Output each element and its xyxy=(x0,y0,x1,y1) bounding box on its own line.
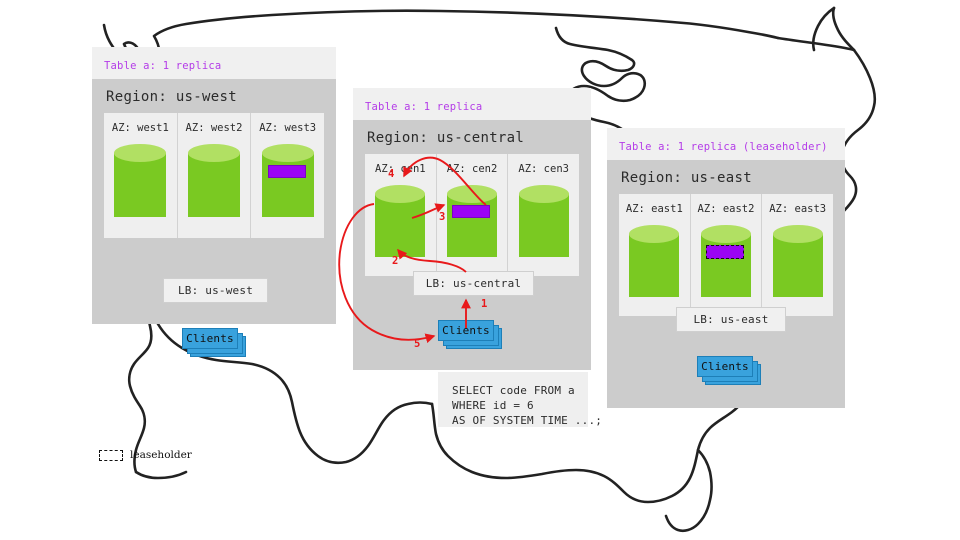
arrow-label-2: 2 xyxy=(392,255,398,267)
cylinder-body xyxy=(262,153,314,217)
cylinder-top xyxy=(114,144,166,162)
region-title: Region: us-west xyxy=(92,79,336,113)
cylinder-top xyxy=(519,185,569,203)
cylinder-body xyxy=(701,234,751,297)
node-cylinder-west2[interactable] xyxy=(188,144,240,226)
clients-stack-us-central[interactable]: Clients xyxy=(438,320,506,350)
cylinder-body xyxy=(447,194,497,257)
node-cylinder-cen3[interactable] xyxy=(519,185,569,265)
table-replica-label: Table a: 1 replica (leaseholder) xyxy=(619,141,828,153)
load-balancer-us-central[interactable]: LB: us-central xyxy=(413,271,534,296)
node-cylinder-west3[interactable] xyxy=(262,144,314,226)
az-cell-east2[interactable]: AZ: east2 xyxy=(690,194,762,316)
table-replica-label: Table a: 1 replica xyxy=(104,60,221,72)
az-cell-east3[interactable]: AZ: east3 xyxy=(761,194,833,316)
load-balancer-us-east[interactable]: LB: us-east xyxy=(676,307,786,332)
az-cell-cen3[interactable]: AZ: cen3 xyxy=(507,154,579,276)
region-panel-us-west: Table a: 1 replica Region: us-west AZ: w… xyxy=(92,47,336,324)
az-label: AZ: east3 xyxy=(762,203,833,215)
node-cylinder-east2[interactable] xyxy=(701,225,751,305)
cylinder-top xyxy=(447,185,497,203)
node-cylinder-west1[interactable] xyxy=(114,144,166,226)
arrow-label-3: 3 xyxy=(439,211,445,223)
az-label: AZ: east2 xyxy=(691,203,762,215)
az-label: AZ: west1 xyxy=(104,122,177,134)
replica-box-east2-leaseholder[interactable] xyxy=(706,245,744,259)
cylinder-body xyxy=(375,194,425,257)
load-balancer-us-west[interactable]: LB: us-west xyxy=(163,278,268,303)
cylinder-top xyxy=(701,225,751,243)
az-cell-east1[interactable]: AZ: east1 xyxy=(619,194,690,316)
node-cylinder-east1[interactable] xyxy=(629,225,679,305)
cylinder-top xyxy=(188,144,240,162)
region-title: Region: us-central xyxy=(353,120,591,154)
region-table-header: Table a: 1 replica xyxy=(92,47,336,79)
region-table-header: Table a: 1 replica xyxy=(353,88,591,120)
az-cell-west1[interactable]: AZ: west1 xyxy=(104,113,177,238)
az-row: AZ: west1 AZ: west2 AZ: west3 xyxy=(104,113,324,238)
node-cylinder-cen1[interactable] xyxy=(375,185,425,265)
region-panel-us-central: Table a: 1 replica Region: us-central AZ… xyxy=(353,88,591,370)
az-label: AZ: cen3 xyxy=(508,163,579,175)
region-table-header: Table a: 1 replica (leaseholder) xyxy=(607,128,845,160)
az-label: AZ: east1 xyxy=(619,203,690,215)
legend: leaseholder xyxy=(99,449,192,461)
cylinder-top xyxy=(773,225,823,243)
arrow-label-1: 1 xyxy=(481,298,487,310)
clients-box[interactable]: Clients xyxy=(438,320,494,341)
region-panel-us-east: Table a: 1 replica (leaseholder) Region:… xyxy=(607,128,845,408)
clients-box[interactable]: Clients xyxy=(697,356,753,377)
replica-box-cen2[interactable] xyxy=(452,205,490,218)
az-row: AZ: east1 AZ: east2 AZ: east3 xyxy=(619,194,833,316)
sql-query-box: SELECT code FROM a WHERE id = 6 AS OF SY… xyxy=(438,372,588,427)
az-cell-cen1[interactable]: AZ: cen1 xyxy=(365,154,436,276)
leaseholder-swatch-icon xyxy=(99,450,123,461)
diagram-canvas: Table a: 1 replica Region: us-west AZ: w… xyxy=(0,0,960,540)
az-label: AZ: west3 xyxy=(251,122,324,134)
legend-label: leaseholder xyxy=(130,449,192,461)
region-title: Region: us-east xyxy=(607,160,845,194)
arrow-label-5: 5 xyxy=(414,338,420,350)
node-cylinder-cen2[interactable] xyxy=(447,185,497,265)
replica-box-west3[interactable] xyxy=(268,165,306,178)
az-cell-west2[interactable]: AZ: west2 xyxy=(177,113,251,238)
az-label: AZ: cen1 xyxy=(365,163,436,175)
clients-stack-us-west[interactable]: Clients xyxy=(182,328,248,358)
az-cell-cen2[interactable]: AZ: cen2 xyxy=(436,154,508,276)
clients-box[interactable]: Clients xyxy=(182,328,238,349)
cylinder-top xyxy=(629,225,679,243)
cylinder-body xyxy=(188,153,240,217)
cylinder-body xyxy=(629,234,679,297)
node-cylinder-east3[interactable] xyxy=(773,225,823,305)
cylinder-top xyxy=(262,144,314,162)
az-label: AZ: cen2 xyxy=(437,163,508,175)
cylinder-body xyxy=(773,234,823,297)
table-replica-label: Table a: 1 replica xyxy=(365,101,482,113)
cylinder-body xyxy=(114,153,166,217)
az-label: AZ: west2 xyxy=(178,122,251,134)
cylinder-top xyxy=(375,185,425,203)
clients-stack-us-east[interactable]: Clients xyxy=(697,356,765,386)
az-cell-west3[interactable]: AZ: west3 xyxy=(250,113,324,238)
arrow-label-4: 4 xyxy=(388,168,394,180)
cylinder-body xyxy=(519,194,569,257)
